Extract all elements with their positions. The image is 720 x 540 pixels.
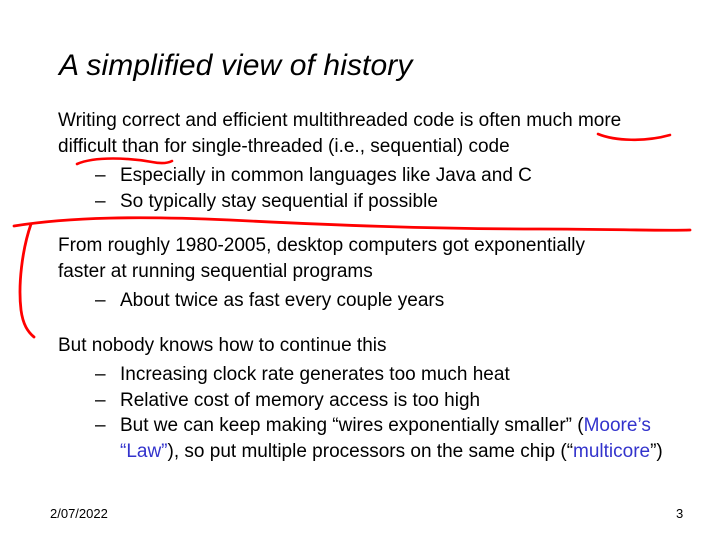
footer-date: 2/07/2022 (50, 506, 108, 522)
paragraph-bullet: But nobody knows how to continue this (0, 333, 720, 359)
dash-marker: – (95, 413, 120, 439)
sub-bullet-label: Relative cost of memory access is too hi… (120, 388, 680, 414)
dash-marker: – (95, 362, 120, 388)
content-block: Writing correct and efficient multithrea… (0, 108, 720, 214)
text-segment: But we can keep making “wires exponentia… (120, 415, 584, 436)
multicore-link[interactable]: multicore (573, 441, 650, 462)
content-block: From roughly 1980-2005, desktop computer… (0, 233, 720, 314)
paragraph-line: faster at running sequential programs (58, 259, 684, 285)
sub-bullet: – Relative cost of memory access is too … (0, 388, 720, 414)
sub-bullet: – Increasing clock rate generates too mu… (0, 362, 720, 388)
dash-marker: – (95, 288, 120, 314)
sub-bullet-label: But we can keep making “wires exponentia… (120, 413, 680, 464)
sub-bullet-label: About twice as fast every couple years (120, 288, 680, 314)
dash-marker: – (95, 189, 120, 215)
paragraph-bullet: From roughly 1980-2005, desktop computer… (0, 233, 720, 284)
sub-bullet-label: Increasing clock rate generates too much… (120, 362, 680, 388)
slide-body: Writing correct and efficient multithrea… (0, 108, 720, 464)
sub-bullet-label: So typically stay sequential if possible (120, 189, 680, 215)
text-segment: ”) (650, 441, 663, 462)
sub-bullet-label: Especially in common languages like Java… (120, 163, 680, 189)
paragraph-bullet: Writing correct and efficient multithrea… (0, 108, 720, 159)
dash-marker: – (95, 163, 120, 189)
slide-title: A simplified view of history (59, 48, 412, 84)
sub-bullet-with-links: – But we can keep making “wires exponent… (0, 413, 720, 464)
sub-bullet: – About twice as fast every couple years (0, 288, 720, 314)
text-segment: ), so put multiple processors on the sam… (168, 441, 574, 462)
paragraph-line: But nobody knows how to continue this (58, 333, 684, 359)
spacer (0, 214, 720, 233)
spacer (0, 314, 720, 333)
sub-bullet: – Especially in common languages like Ja… (0, 163, 720, 189)
presentation-slide: A simplified view of history Writing cor… (0, 0, 720, 540)
content-block: But nobody knows how to continue this – … (0, 333, 720, 465)
footer-page-number: 3 (676, 506, 683, 522)
paragraph-line: difficult than for single-threaded (i.e.… (58, 134, 684, 160)
sub-bullet: – So typically stay sequential if possib… (0, 189, 720, 215)
paragraph-line: From roughly 1980-2005, desktop computer… (58, 233, 684, 259)
paragraph-line: Writing correct and efficient multithrea… (58, 108, 684, 134)
dash-marker: – (95, 388, 120, 414)
